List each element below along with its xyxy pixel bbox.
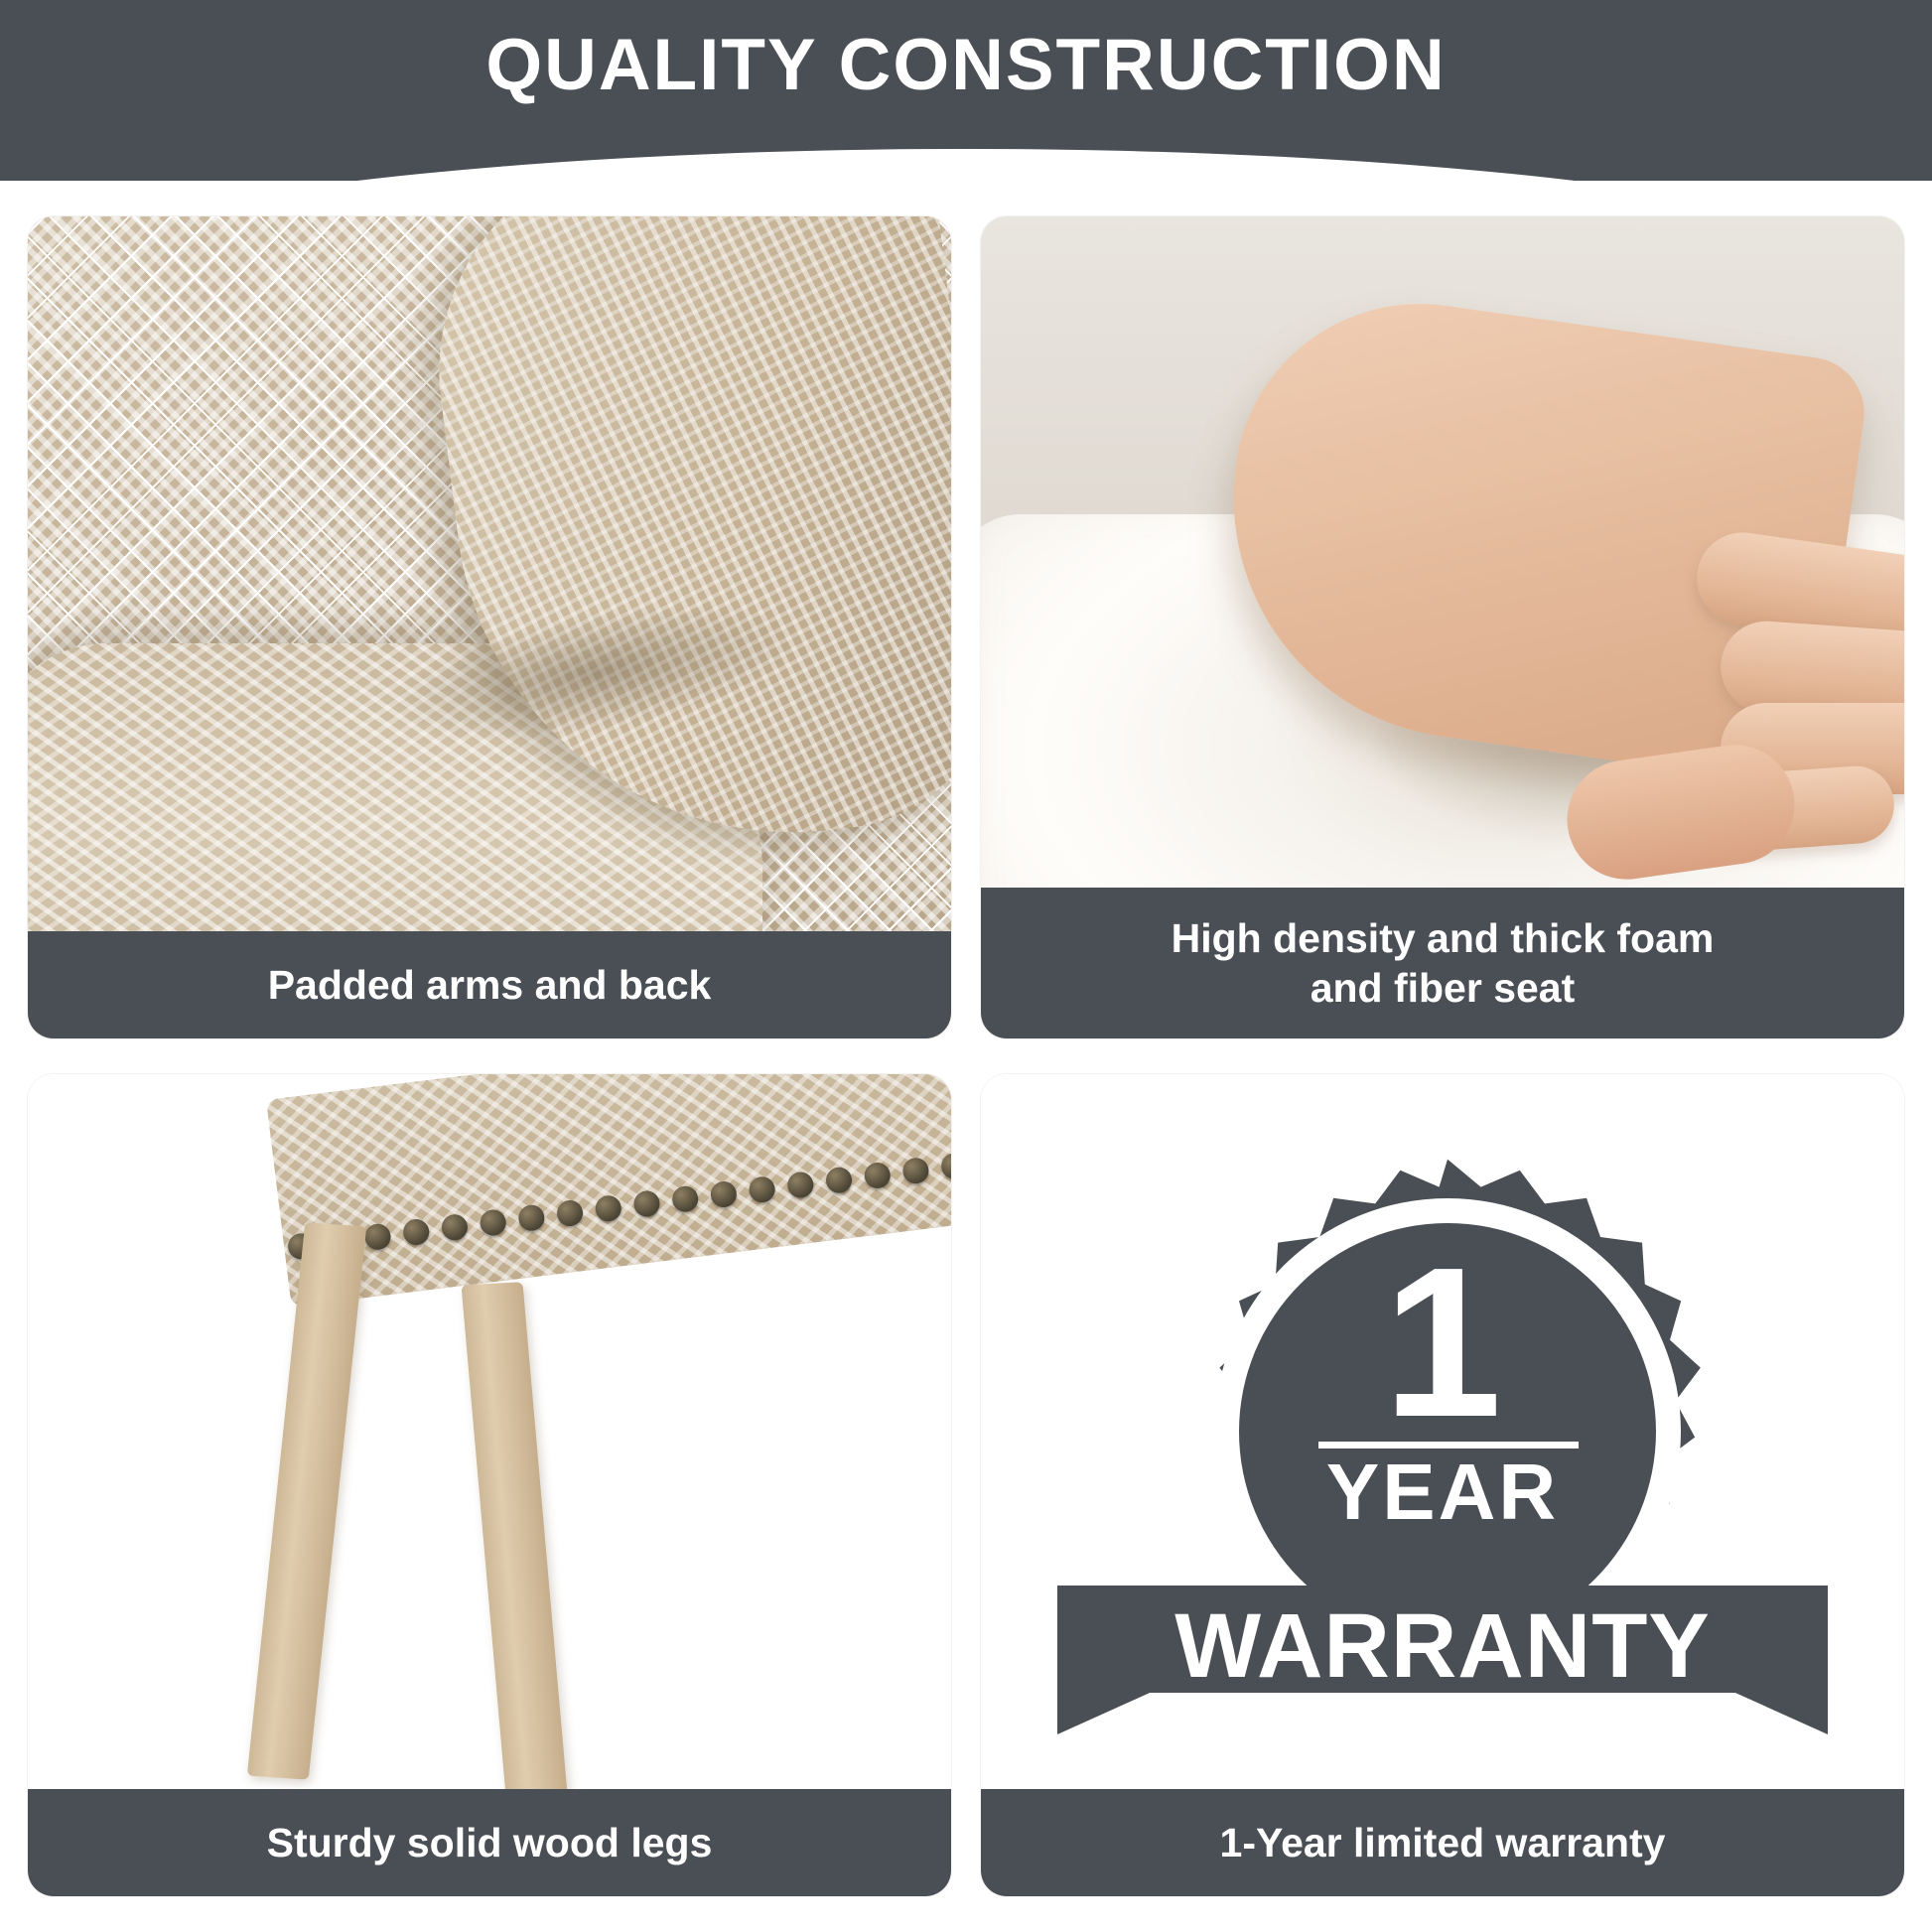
- caption-warranty-prefix: 1: [1220, 1820, 1243, 1865]
- warranty-ribbon-text: WARRANTY: [1075, 1590, 1810, 1702]
- caption-foam-line2: and fiber seat: [1311, 965, 1576, 1011]
- nailhead: [632, 1189, 661, 1218]
- feature-card-padded-arms: Padded arms and back: [28, 216, 951, 1038]
- fabric-closeup-image: [28, 216, 951, 1038]
- nailhead: [517, 1203, 546, 1232]
- nailhead: [594, 1194, 622, 1223]
- nailhead: [786, 1171, 815, 1199]
- nailhead: [940, 1152, 951, 1180]
- wood-legs-image: [28, 1074, 951, 1896]
- nailhead: [440, 1213, 469, 1242]
- nailhead: [748, 1175, 776, 1204]
- nailhead: [709, 1180, 738, 1209]
- feature-card-foam-seat: High density and thick foam and fiber se…: [981, 216, 1904, 1038]
- nailhead: [479, 1208, 507, 1237]
- nailhead: [863, 1162, 892, 1190]
- nailhead: [825, 1166, 854, 1194]
- caption-wood-legs: Sturdy solid wood legs: [28, 1789, 951, 1896]
- warranty-badge-image: 1 YEAR WARRANTY: [981, 1074, 1904, 1896]
- header-curve-decoration: [0, 149, 1932, 181]
- feature-card-warranty: 1 YEAR WARRANTY 1-Year limited warranty: [981, 1074, 1904, 1896]
- nailhead: [556, 1199, 585, 1228]
- warranty-period: YEAR: [1075, 1447, 1810, 1538]
- feature-grid: Padded arms and back High density and th…: [0, 181, 1932, 1932]
- nailhead: [402, 1218, 431, 1247]
- header-banner: QUALITY CONSTRUCTION: [0, 0, 1932, 181]
- feature-card-wood-legs: Sturdy solid wood legs: [28, 1074, 951, 1896]
- nailhead: [671, 1184, 700, 1213]
- caption-padded-arms: Padded arms and back: [28, 931, 951, 1038]
- caption-warranty: 1-Year limited warranty: [981, 1789, 1904, 1896]
- nailhead: [901, 1157, 930, 1185]
- caption-foam-line1: High density and thick foam: [1172, 915, 1715, 961]
- nailhead: [363, 1222, 392, 1251]
- warranty-number: 1: [1075, 1235, 1810, 1449]
- caption-warranty-rest: -Year limited warranty: [1242, 1820, 1665, 1865]
- caption-foam-seat: High density and thick foam and fiber se…: [981, 888, 1904, 1038]
- page-title: QUALITY CONSTRUCTION: [0, 0, 1932, 131]
